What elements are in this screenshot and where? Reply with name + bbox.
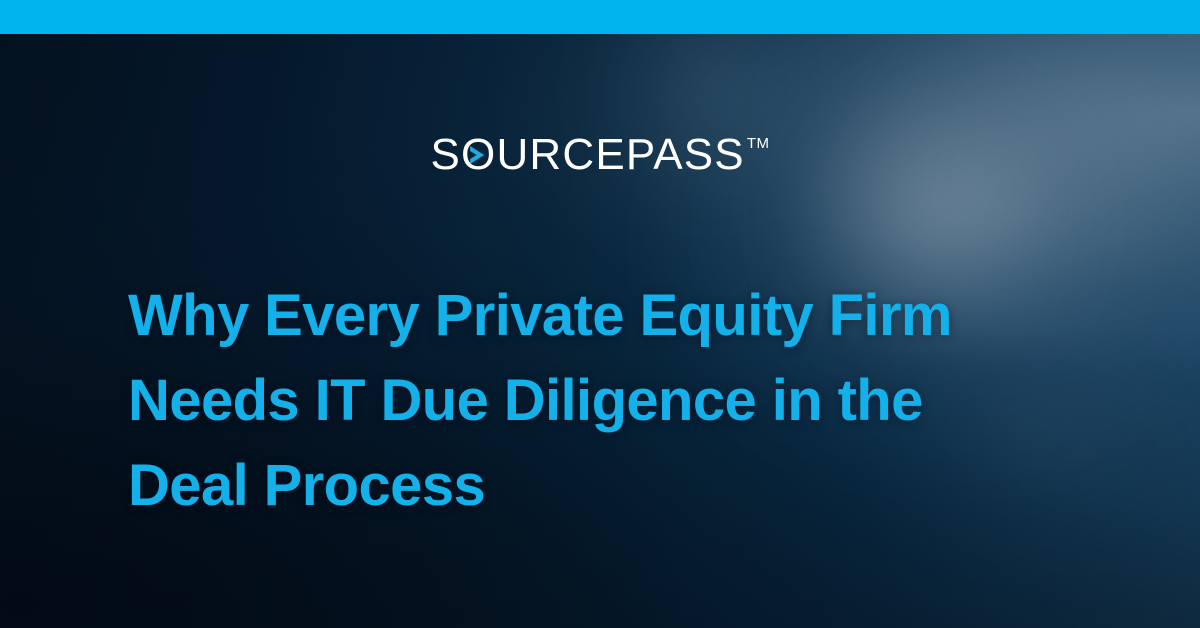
brand-logo-inner: SOURCEPASS TM: [430, 133, 769, 177]
brand-logo[interactable]: SOURCEPASS TM: [0, 133, 1200, 177]
brand-wordmark: SOURCEPASS: [430, 133, 744, 177]
social-card: SOURCEPASS TM Why Every Private Equity F…: [0, 0, 1200, 628]
brand-logo-mark: O: [461, 133, 496, 177]
trademark-symbol: TM: [747, 136, 770, 151]
headline-line-1: Why Every Private Equity Firm: [128, 273, 1088, 358]
accent-bar: [0, 0, 1200, 34]
brand-wordmark-suffix: URCEPASS: [496, 130, 744, 179]
page-title: Why Every Private Equity Firm Needs IT D…: [128, 273, 1088, 528]
headline-line-3: Deal Process: [128, 443, 1088, 528]
brand-wordmark-prefix: S: [430, 130, 461, 179]
headline-line-2: Needs IT Due Diligence in the: [128, 358, 1088, 443]
brand-wordmark-o: O: [461, 130, 496, 179]
